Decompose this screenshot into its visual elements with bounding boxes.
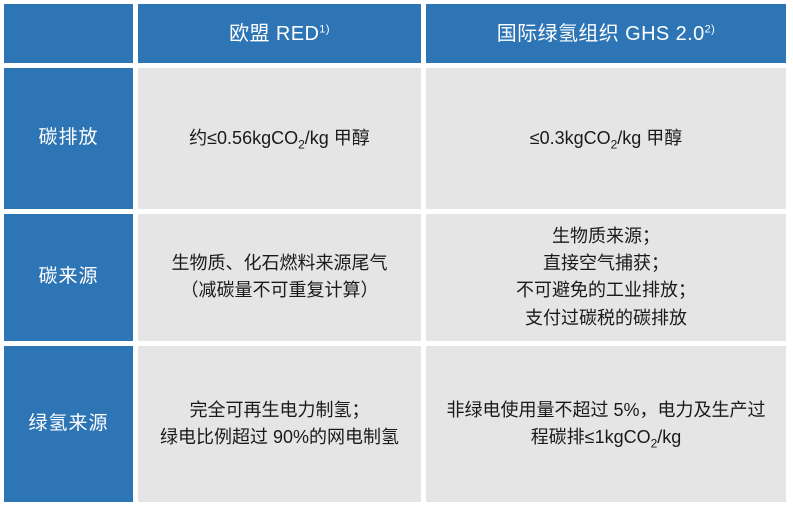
cell-green-hydrogen-source-eu-line-2: 绿电比例超过 90%的网电制氢 bbox=[160, 424, 399, 451]
cell-carbon-emissions-eu-text: 约≤0.56kgCO2/kg 甲醇 bbox=[179, 125, 380, 153]
cell-carbon-source-eu-text: 生物质、化石燃料来源尾气 （减碳量不可重复计算） bbox=[162, 250, 398, 305]
cell-carbon-source-ghs-text: 生物质来源； 直接空气捕获； 不可避免的工业排放； 支付过碳税的碳排放 bbox=[506, 223, 706, 332]
cell-green-hydrogen-source-eu-text: 完全可再生电力制氢； 绿电比例超过 90%的网电制氢 bbox=[150, 397, 409, 452]
cell-carbon-source-eu-line-1: 生物质、化石燃料来源尾气 bbox=[172, 250, 388, 277]
row-label-green-hydrogen-source-text: 绿氢来源 bbox=[28, 412, 108, 437]
header-corner-empty-cell bbox=[4, 4, 133, 63]
cell-carbon-source-ghs-line-3: 不可避免的工业排放； bbox=[516, 277, 696, 304]
row-label-green-hydrogen-source: 绿氢来源 bbox=[4, 346, 133, 502]
cell-carbon-source-eu: 生物质、化石燃料来源尾气 （减碳量不可重复计算） bbox=[138, 214, 421, 342]
column-header-ghs-footnote-marker: 2) bbox=[705, 23, 716, 35]
cell-green-hydrogen-source-eu-line-1: 完全可再生电力制氢； bbox=[160, 397, 399, 424]
standards-comparison-table: 欧盟 RED1) 国际绿氢组织 GHS 2.02) 碳排放 约≤0.56kgCO… bbox=[0, 0, 793, 513]
cell-carbon-emissions-ghs: ≤0.3kgCO2/kg 甲醇 bbox=[426, 68, 786, 208]
cell-carbon-emissions-eu: 约≤0.56kgCO2/kg 甲醇 bbox=[138, 68, 421, 208]
column-header-ghs-main: 国际绿氢组织 GHS 2.0 bbox=[497, 23, 705, 45]
cell-green-hydrogen-source-ghs-line-1: 非绿电使用量不超过 5%，电力及生产过 bbox=[446, 397, 765, 424]
cell-carbon-emissions-ghs-prefix: ≤0.3kgCO bbox=[530, 128, 611, 148]
table-row: 碳来源 生物质、化石燃料来源尾气 （减碳量不可重复计算） 生物质来源； 直接空气… bbox=[4, 214, 786, 342]
cell-green-hydrogen-source-ghs-text: 非绿电使用量不超过 5%，电力及生产过 程碳排≤1kgCO2/kg bbox=[436, 397, 775, 452]
table-row: 碳排放 约≤0.56kgCO2/kg 甲醇 ≤0.3kgCO2/kg 甲醇 bbox=[4, 68, 786, 208]
row-label-carbon-source: 碳来源 bbox=[4, 214, 133, 342]
column-header-eu-red-main: 欧盟 RED bbox=[229, 23, 319, 45]
row-label-carbon-emissions-text: 碳排放 bbox=[38, 126, 98, 151]
cell-carbon-source-ghs-line-1: 生物质来源； bbox=[516, 223, 696, 250]
cell-carbon-emissions-eu-suffix: /kg 甲醇 bbox=[305, 128, 370, 148]
row-label-carbon-emissions: 碳排放 bbox=[4, 68, 133, 208]
cell-green-hydrogen-source-ghs: 非绿电使用量不超过 5%，电力及生产过 程碳排≤1kgCO2/kg bbox=[426, 346, 786, 502]
cell-carbon-source-ghs-line-4: 支付过碳税的碳排放 bbox=[516, 305, 696, 332]
cell-green-hydrogen-source-ghs-line-2: 程碳排≤1kgCO2/kg bbox=[446, 424, 765, 451]
column-header-ghs: 国际绿氢组织 GHS 2.02) bbox=[426, 4, 786, 63]
cell-green-hydrogen-source-ghs-line-2-prefix: 程碳排≤1kgCO bbox=[531, 427, 651, 447]
column-header-eu-red-text: 欧盟 RED1) bbox=[229, 21, 330, 47]
column-header-ghs-text: 国际绿氢组织 GHS 2.02) bbox=[497, 21, 715, 47]
cell-carbon-emissions-ghs-suffix: /kg 甲醇 bbox=[617, 128, 682, 148]
column-header-eu-red: 欧盟 RED1) bbox=[138, 4, 421, 63]
table-row: 绿氢来源 完全可再生电力制氢； 绿电比例超过 90%的网电制氢 非绿电使用量不超… bbox=[4, 346, 786, 502]
cell-carbon-emissions-eu-prefix: 约≤0.56kgCO bbox=[189, 128, 298, 148]
column-header-eu-red-footnote-marker: 1) bbox=[319, 23, 330, 35]
cell-carbon-emissions-ghs-text: ≤0.3kgCO2/kg 甲醇 bbox=[520, 125, 693, 153]
cell-carbon-source-eu-line-2: （减碳量不可重复计算） bbox=[172, 277, 388, 304]
cell-carbon-source-ghs-line-2: 直接空气捕获； bbox=[516, 250, 696, 277]
cell-carbon-source-ghs: 生物质来源； 直接空气捕获； 不可避免的工业排放； 支付过碳税的碳排放 bbox=[426, 214, 786, 342]
row-label-carbon-source-text: 碳来源 bbox=[38, 265, 98, 290]
cell-carbon-emissions-eu-subscript: 2 bbox=[298, 137, 305, 151]
table-header-row: 欧盟 RED1) 国际绿氢组织 GHS 2.02) bbox=[4, 4, 786, 63]
cell-green-hydrogen-source-eu: 完全可再生电力制氢； 绿电比例超过 90%的网电制氢 bbox=[138, 346, 421, 502]
cell-green-hydrogen-source-ghs-line-2-suffix: /kg bbox=[657, 427, 681, 447]
